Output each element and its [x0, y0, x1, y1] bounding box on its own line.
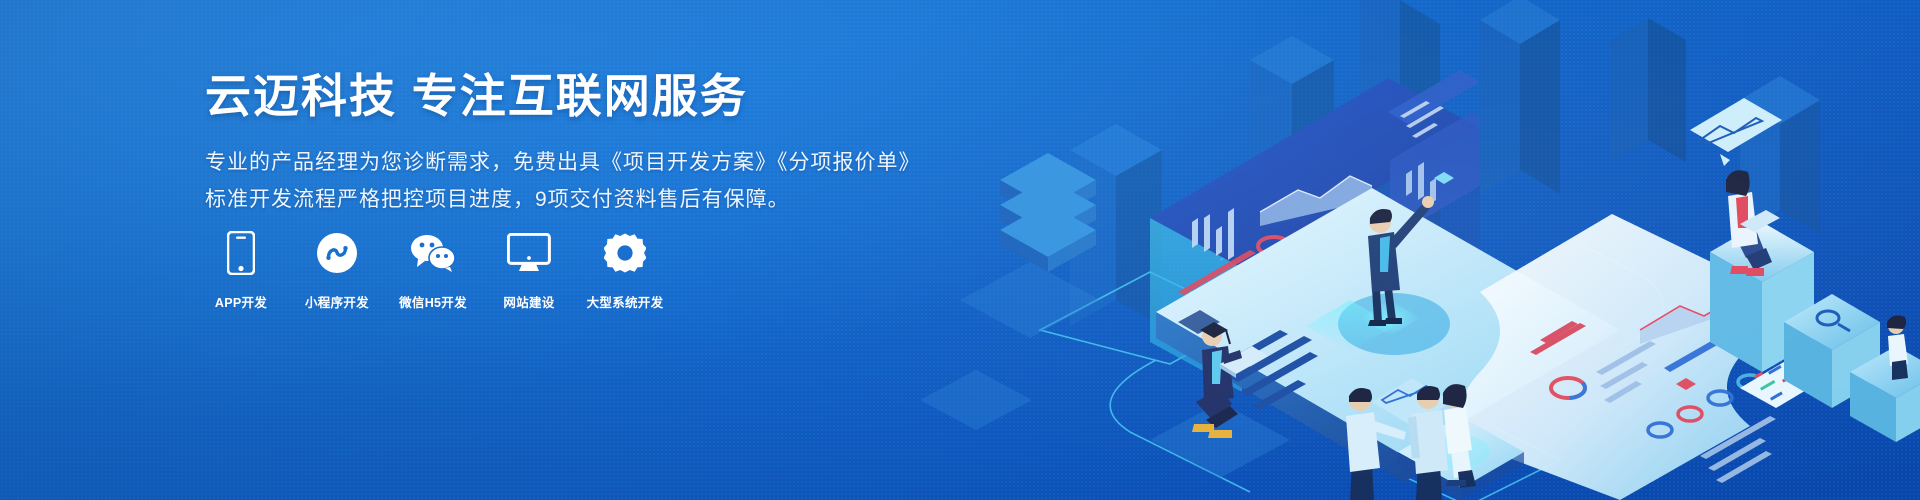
service-item-app[interactable]: APP开发 [205, 228, 277, 311]
gear-icon [604, 228, 646, 278]
subtitle-line-1: 专业的产品经理为您诊断需求，免费出具《项目开发方案》《分项报价单》 [205, 145, 905, 182]
illustration-svg [920, 0, 1920, 500]
service-label: 网站建设 [503, 292, 554, 311]
hero-banner: 云迈科技 专注互联网服务 专业的产品经理为您诊断需求，免费出具《项目开发方案》《… [0, 0, 1920, 500]
service-label: 微信H5开发 [399, 292, 467, 311]
service-label: 小程序开发 [305, 292, 369, 311]
isometric-data-dashboard-illustration [920, 0, 1920, 500]
desktop-monitor-icon [507, 228, 551, 278]
hero-copy: 云迈科技 专注互联网服务 专业的产品经理为您诊断需求，免费出具《项目开发方案》《… [205, 70, 905, 218]
service-item-mini-program[interactable]: 小程序开发 [301, 228, 373, 311]
service-label: APP开发 [215, 292, 267, 311]
wechat-icon [410, 228, 456, 278]
mini-program-icon [316, 228, 358, 278]
service-list: APP开发 小程序开发 [205, 228, 661, 311]
subtitle-line-2: 标准开发流程严格把控项目进度，9项交付资料售后有保障。 [205, 182, 905, 219]
mobile-phone-icon [227, 228, 255, 278]
service-item-wechat-h5[interactable]: 微信H5开发 [397, 228, 469, 311]
pedestal-stack-right [1710, 222, 1920, 442]
service-item-website[interactable]: 网站建设 [493, 228, 565, 311]
service-item-large-system[interactable]: 大型系统开发 [589, 228, 661, 311]
hero-subtitle: 专业的产品经理为您诊断需求，免费出具《项目开发方案》《分项报价单》 标准开发流程… [205, 145, 905, 219]
page-title: 云迈科技 专注互联网服务 [205, 70, 905, 123]
service-label: 大型系统开发 [587, 292, 664, 311]
